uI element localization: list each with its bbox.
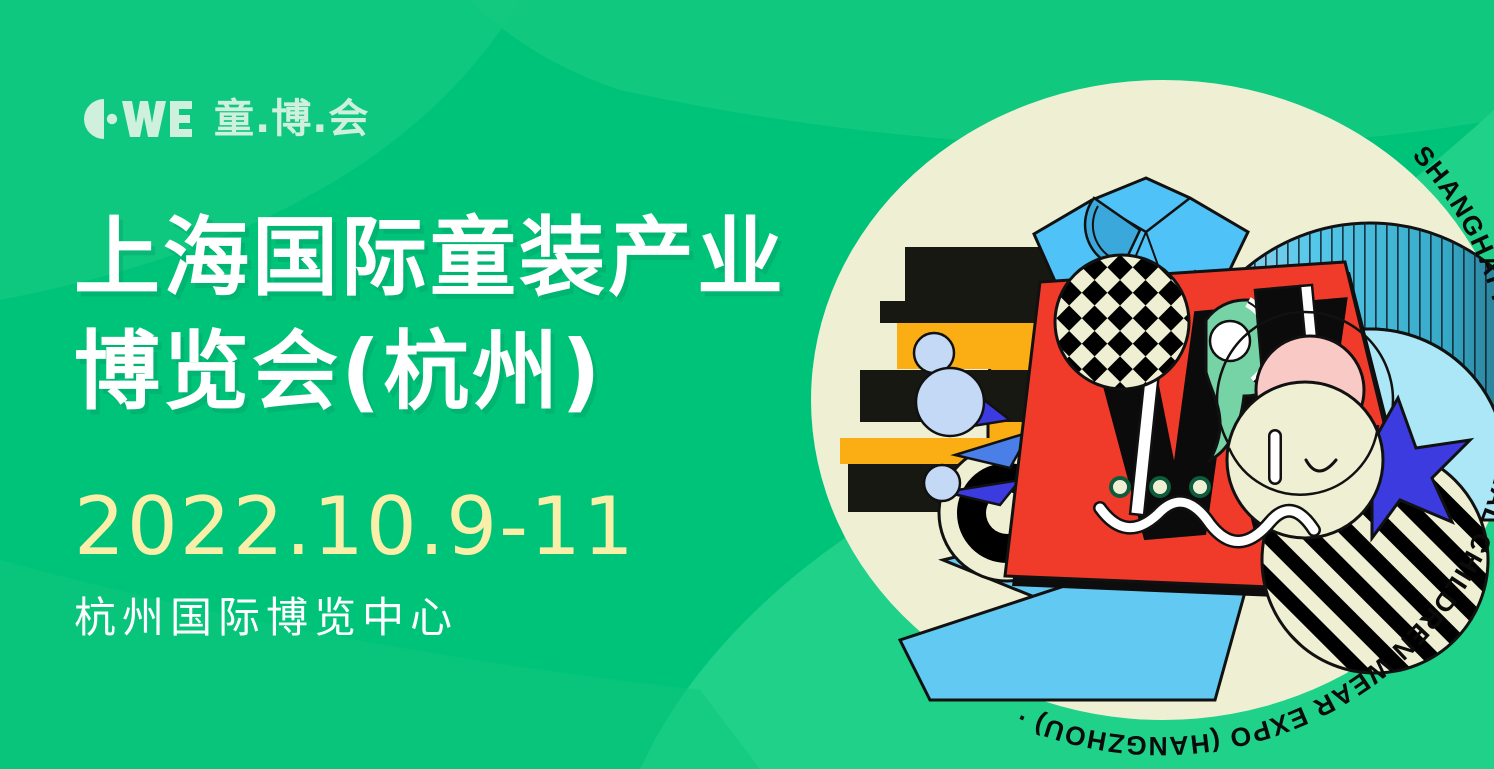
- headline: 上海国际童装产业 博览会(杭州): [74, 202, 854, 429]
- poster-canvas: SHANGHAI INTERNATIONAL CHILDREN WEAR EXP…: [0, 0, 1494, 769]
- event-date: 2022.10.9-11: [74, 487, 854, 567]
- event-venue: 杭州国际博览中心: [74, 597, 854, 639]
- cwe-pacman-logo-icon: [74, 97, 192, 141]
- brand-logo[interactable]: 童.博.会: [74, 92, 854, 146]
- text-column: 童.博.会 上海国际童装产业 博览会(杭州) 2022.10.9-11 杭州国际…: [74, 92, 854, 639]
- headline-line-1: 上海国际童装产业: [74, 202, 854, 316]
- headline-line-2: 博览会(杭州): [74, 316, 854, 430]
- brand-logo-cn: 童.博.会: [214, 99, 369, 139]
